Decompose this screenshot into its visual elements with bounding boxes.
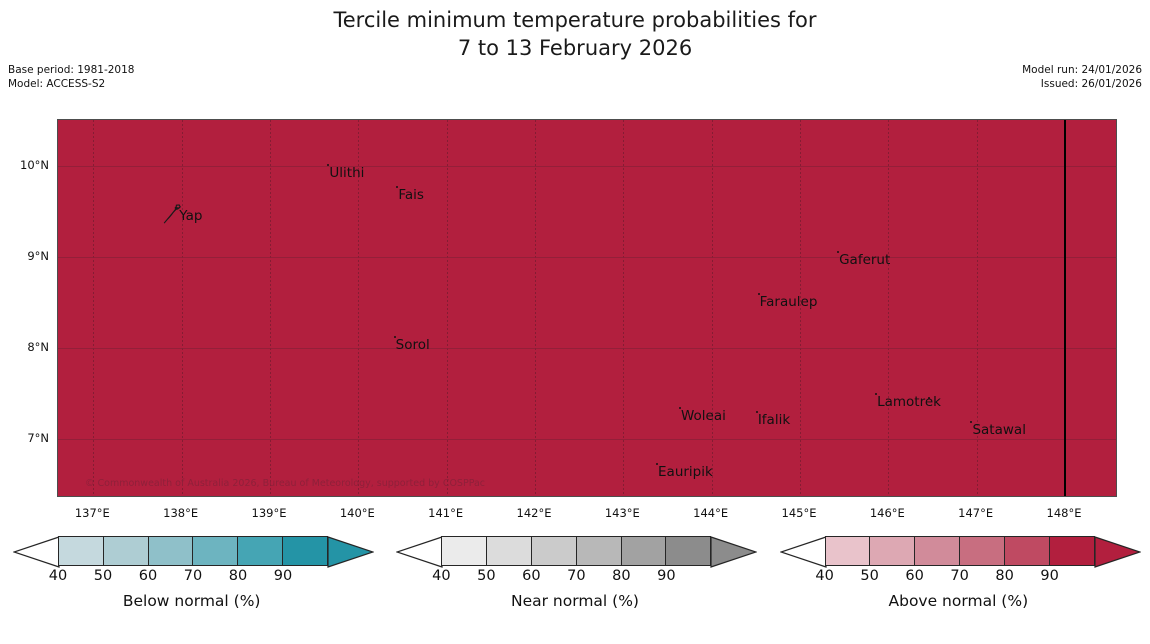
- colorbar-caption: Above normal (%): [767, 592, 1150, 610]
- x-tick-label: 139°E: [252, 506, 287, 520]
- colorbar-caption: Near normal (%): [383, 592, 766, 610]
- gridline-horizontal: [58, 439, 1116, 440]
- colorbar-swatch: [238, 537, 283, 565]
- meridian-line-148e: [1064, 120, 1066, 496]
- colorbar-above-normal: 405060708090Above normal (%): [767, 536, 1150, 566]
- y-tick-label: 10°N: [0, 158, 49, 172]
- colorbar-tick-label: 50: [860, 568, 878, 584]
- colorbar-extend-low: [780, 536, 827, 568]
- yap-island-shape: [163, 203, 183, 225]
- colorbar-extend-high: [327, 536, 374, 568]
- x-tick-label: 138°E: [163, 506, 198, 520]
- meta-left: Base period: 1981-2018 Model: ACCESS-S2: [8, 63, 134, 91]
- colorbar-tick-label: 80: [612, 568, 630, 584]
- x-tick-label: 146°E: [870, 506, 905, 520]
- map-panel[interactable]: YapUlithiFaisSorolGaferutFaraulepWoleaiI…: [57, 119, 1117, 497]
- y-tick-label: 8°N: [0, 340, 49, 354]
- meta-right: Model run: 24/01/2026 Issued: 26/01/2026: [1022, 63, 1142, 91]
- colorbar-tick-label: 70: [950, 568, 968, 584]
- colorbar-swatch: [915, 537, 960, 565]
- colorbar-swatch: [487, 537, 532, 565]
- model-run-text: Model run: 24/01/2026: [1022, 63, 1142, 77]
- colorbar-swatch: [666, 537, 710, 565]
- colorbar-swatch: [59, 537, 104, 565]
- place-label: Ulithi: [329, 167, 364, 180]
- gridline-horizontal: [58, 257, 1116, 258]
- colorbar-tick-label: 90: [1040, 568, 1058, 584]
- x-tick-label: 148°E: [1047, 506, 1082, 520]
- colorbar-extend-low: [13, 536, 60, 568]
- colorbar-below-normal: 405060708090Below normal (%): [0, 536, 383, 566]
- x-tick-label: 141°E: [428, 506, 463, 520]
- colorbar-tick-label: 90: [657, 568, 675, 584]
- colorbar-swatch: [622, 537, 667, 565]
- place-label: Faraulep: [760, 296, 818, 309]
- issued-text: Issued: 26/01/2026: [1022, 77, 1142, 91]
- colorbar-extend-high: [1094, 536, 1141, 568]
- colorbar-body: [441, 536, 711, 566]
- colorbar-caption: Below normal (%): [0, 592, 383, 610]
- place-label: Sorol: [396, 339, 430, 352]
- place-label: Lamotrek: [877, 396, 941, 409]
- colorbar-swatch: [532, 537, 577, 565]
- colorbar-swatch: [283, 537, 327, 565]
- colorbar-body: [825, 536, 1095, 566]
- gridline-horizontal: [58, 166, 1116, 167]
- colorbar-swatch: [870, 537, 915, 565]
- colorbar-swatch: [826, 537, 871, 565]
- colorbar-swatch: [149, 537, 194, 565]
- colorbar-tick-label: 60: [905, 568, 923, 584]
- place-marker: [928, 397, 930, 399]
- colorbar-swatch: [1005, 537, 1050, 565]
- colorbar-swatch: [577, 537, 622, 565]
- colorbar-tick-label: 50: [94, 568, 112, 584]
- x-tick-label: 140°E: [340, 506, 375, 520]
- model-text: Model: ACCESS-S2: [8, 77, 134, 91]
- y-tick-label: 9°N: [0, 249, 49, 263]
- x-tick-label: 143°E: [605, 506, 640, 520]
- x-tick-label: 145°E: [782, 506, 817, 520]
- colorbar-tick-label: 80: [229, 568, 247, 584]
- colorbar-tick-label: 70: [567, 568, 585, 584]
- colorbar-extend-low: [396, 536, 443, 568]
- place-label: Satawal: [972, 424, 1025, 437]
- colorbar-swatch: [104, 537, 149, 565]
- colorbar-tick-label: 50: [477, 568, 495, 584]
- colorbar-tick-label: 40: [432, 568, 450, 584]
- colorbar-near-normal: 405060708090Near normal (%): [383, 536, 766, 566]
- place-label: Eauripik: [658, 466, 713, 479]
- colorbar-tick-label: 80: [995, 568, 1013, 584]
- colorbar-extend-high: [710, 536, 757, 568]
- place-label: Gaferut: [839, 254, 890, 267]
- x-tick-label: 142°E: [517, 506, 552, 520]
- colorbar-swatch: [960, 537, 1005, 565]
- x-tick-label: 147°E: [958, 506, 993, 520]
- gridline-horizontal: [58, 348, 1116, 349]
- y-tick-label: 7°N: [0, 431, 49, 445]
- colorbar-tick-label: 60: [522, 568, 540, 584]
- colorbar-swatch: [1050, 537, 1094, 565]
- title-line-2: 7 to 13 February 2026: [0, 34, 1150, 62]
- figure-root: Tercile minimum temperature probabilitie…: [0, 0, 1150, 644]
- colorbar-swatch: [193, 537, 238, 565]
- colorbar-tick-label: 40: [49, 568, 67, 584]
- base-period-text: Base period: 1981-2018: [8, 63, 134, 77]
- place-label: Woleai: [681, 410, 726, 423]
- colorbar-tick-label: 40: [815, 568, 833, 584]
- x-tick-label: 137°E: [75, 506, 110, 520]
- colorbar-tick-label: 90: [274, 568, 292, 584]
- colorbar-tick-label: 70: [184, 568, 202, 584]
- page-title: Tercile minimum temperature probabilitie…: [0, 6, 1150, 62]
- place-label: Ifalik: [758, 414, 790, 427]
- colorbar-tick-label: 60: [139, 568, 157, 584]
- place-label: Fais: [398, 189, 424, 202]
- copyright-text: © Commonwealth of Australia 2026, Bureau…: [85, 478, 485, 489]
- x-tick-label: 144°E: [693, 506, 728, 520]
- title-line-1: Tercile minimum temperature probabilitie…: [333, 8, 816, 32]
- colorbar-body: [58, 536, 328, 566]
- colorbar-swatch: [442, 537, 487, 565]
